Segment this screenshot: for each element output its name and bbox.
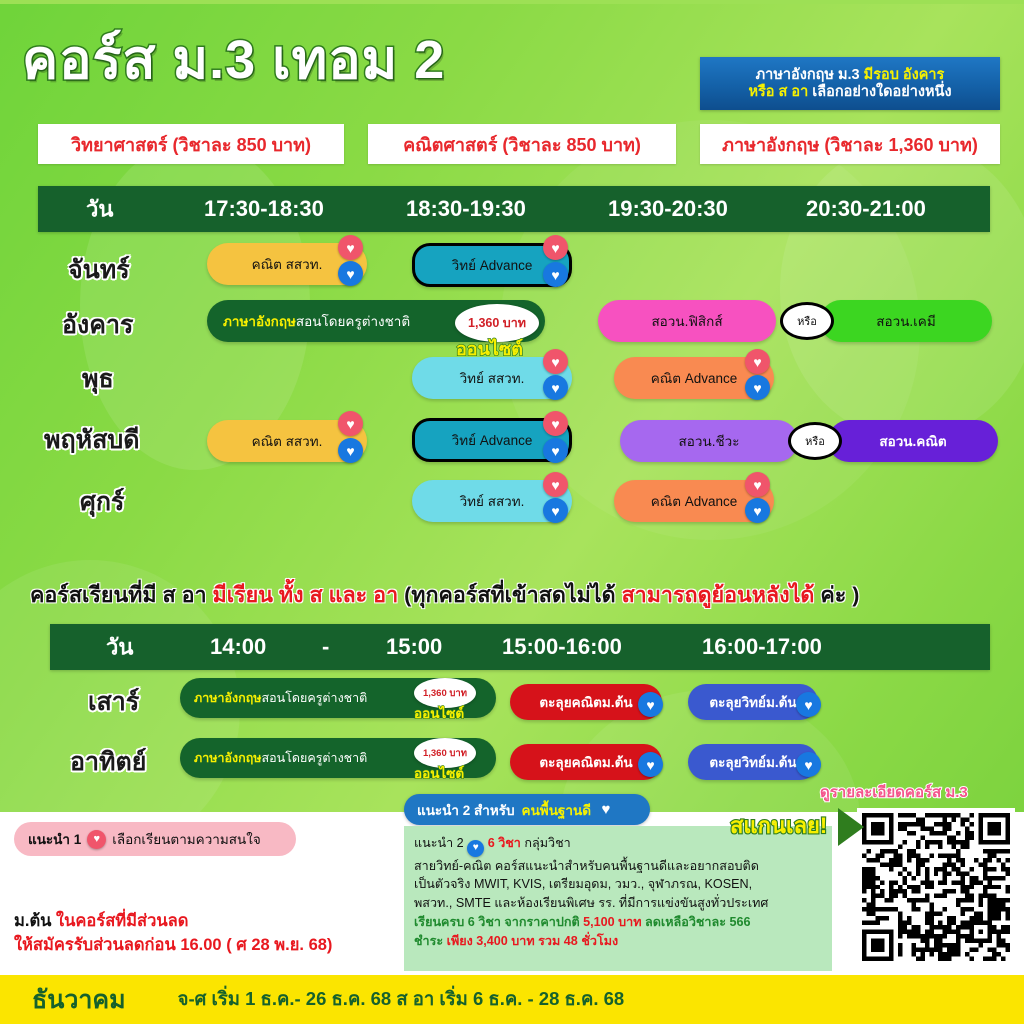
banner-line-2-part-a: หรือ ส อา <box>748 84 812 100</box>
weekend-table-header: วัน 14:00 - 15:00 15:00-16:00 16:00-17:0… <box>50 624 990 670</box>
rec2-tab-part-a: แนะนำ 2 สำหรับ <box>417 799 515 821</box>
subject-price-math: คณิตศาสตร์ (วิชาละ 850 บาท) <box>368 124 676 164</box>
day-label-friday: ศุกร์ <box>80 482 124 522</box>
english-notice-banner: ภาษาอังกฤษ ม.3 มีรอบ อังคาร หรือ ส อา เล… <box>700 57 1000 110</box>
day-label-saturday: เสาร์ <box>88 682 139 722</box>
onsite-label-sun: ออนไซต์ <box>414 762 464 784</box>
weekday-table-header: วัน 17:30-18:30 18:30-19:30 19:30-20:30 … <box>38 186 990 232</box>
class-pill-tue-sowon-chem[interactable]: สอวน.เคมี <box>820 300 992 342</box>
col-header-weekend-slot-2: 15:00-16:00 <box>502 634 622 660</box>
qr-code[interactable] <box>857 808 1015 966</box>
heart-icon-pink: ♥ <box>543 349 568 374</box>
col-header-slot-2: 18:30-19:30 <box>406 196 526 222</box>
day-label-sunday: อาทิตย์ <box>70 742 146 782</box>
heart-icon-pink: ♥ <box>87 830 106 849</box>
pill-label-foreign-teacher: สอนโดยครูต่างชาติ <box>262 688 368 708</box>
muton-line-1: ในคอร์สที่มีส่วนลด <box>51 912 188 930</box>
heart-icon-blue: ♥ <box>543 438 568 463</box>
col-header-slot-3: 19:30-20:30 <box>608 196 728 222</box>
midnote-part-1: คอร์สเรียนที่มี ส อา <box>30 583 213 607</box>
heart-icon-blue: ♥ <box>338 261 363 286</box>
pill-label-english: ภาษาอังกฤษ <box>194 688 262 708</box>
rec2-l6-a: ชำระ <box>414 934 447 948</box>
heart-icon-blue: ♥ <box>796 752 821 777</box>
qr-caption-label: ดูรายละเอียดคอร์ส ม.3 <box>820 780 968 804</box>
midnote-part-2: มีเรียน ทั้ง ส และ อา <box>213 583 405 607</box>
rec2-l6-b: เพียง 3,400 บาท รวม 48 ชั่วโมง <box>447 934 619 948</box>
rec2-l5-c: ลดเหลือวิชาละ 566 <box>642 915 751 929</box>
muton-line-2: ให้สมัครรับส่วนลดก่อน 16.00 ( ศ 28 พ.ย. … <box>14 936 332 954</box>
day-label-tuesday: อังคาร <box>62 305 133 345</box>
footer-month-label: ธันวาคม <box>32 980 126 1020</box>
col-header-weekend-slot-3: 16:00-17:00 <box>702 634 822 660</box>
scan-now-label: สแกนเลย! <box>730 808 827 843</box>
rec2-l1-b: 6 วิชา <box>488 836 521 850</box>
subject-price-science: วิทยาศาสตร์ (วิชาละ 850 บาท) <box>38 124 344 164</box>
rec1-text: เลือกเรียนตามความสนใจ <box>112 828 260 850</box>
col-header-day-weekend: วัน <box>106 630 133 665</box>
midnote-part-3: (ทุกคอร์สที่เข้าสดไม่ได้ <box>404 583 621 607</box>
subject-price-english: ภาษาอังกฤษ (วิชาละ 1,360 บาท) <box>700 124 1000 164</box>
col-header-slot-1: 17:30-18:30 <box>204 196 324 222</box>
heart-icon-pink: ♥ <box>543 472 568 497</box>
decorative-blob <box>780 140 1024 440</box>
qr-code-canvas <box>862 813 1010 961</box>
midnote-part-4: สามารถดูย้อนหลังได้ <box>622 583 821 607</box>
page-title: คอร์ส ม.3 เทอม 2 <box>22 16 445 102</box>
banner-line-1-part-b: มีรอบ อังคาร <box>864 67 945 83</box>
banner-line-2-part-b: เลือกอย่างใดอย่างหนึ่ง <box>812 84 951 100</box>
heart-icon-pink: ♥ <box>543 235 568 260</box>
or-badge-thursday: หรือ <box>788 422 842 460</box>
pill-label-english: ภาษาอังกฤษ <box>194 748 262 768</box>
col-header-slot-4: 20:30-21:00 <box>806 196 926 222</box>
rec2-line-5: เรียนครบ 6 วิชา จากราคาปกติ 5,100 บาท ลด… <box>414 913 822 932</box>
heart-icon-blue: ♥ <box>745 375 770 400</box>
day-label-wednesday: พุธ <box>82 359 114 399</box>
col-header-weekend-start: 14:00 <box>210 634 266 660</box>
heart-icon-pink: ♥ <box>338 411 363 436</box>
arrow-right-icon <box>838 808 864 846</box>
pill-label-english: ภาษาอังกฤษ <box>223 310 296 332</box>
rec2-l5-a: เรียนครบ 6 วิชา จากราคาปกติ <box>414 915 583 929</box>
recommendation-1-chip: แนะนำ 1 ♥ เลือกเรียนตามความสนใจ <box>14 822 296 856</box>
heart-icon-blue: ♥ <box>543 262 568 287</box>
rec2-tab-part-b: คนพื้นฐานดี <box>522 799 591 821</box>
class-pill-thu-sowon-bio[interactable]: สอวน.ชีวะ <box>620 420 798 462</box>
heart-icon-pink: ♥ <box>338 235 363 260</box>
heart-icon-blue: ♥ <box>543 498 568 523</box>
muton-prefix: ม.ต้น <box>14 912 51 930</box>
rec1-prefix-label: แนะนำ 1 <box>28 828 81 850</box>
heart-icon-pink: ♥ <box>543 411 568 436</box>
footer-dates-label: จ-ศ เริ่ม 1 ธ.ค.- 26 ธ.ค. 68 ส อา เริ่ม … <box>178 985 625 1014</box>
heart-icon-blue: ♥ <box>467 840 484 857</box>
replay-availability-note: คอร์สเรียนที่มี ส อา มีเรียน ทั้ง ส และ … <box>30 578 1010 612</box>
onsite-label-tue: ออนไซต์ <box>456 334 523 363</box>
rec2-line-6: ชำระ เพียง 3,400 บาท รวม 48 ชั่วโมง <box>414 932 822 951</box>
class-pill-thu-sowon-math[interactable]: สอวน.คณิต <box>828 420 998 462</box>
pill-label-foreign-teacher: สอนโดยครูต่างชาติ <box>296 310 410 332</box>
heart-icon-blue: ♥ <box>543 375 568 400</box>
rec2-line-3: เป็นตัวจริง MWIT, KVIS, เตรียมอุดม, วมว.… <box>414 875 822 894</box>
recommendation-2-details: แนะนำ 2 ♥ 6 วิชา กลุ่มวิชา สายวิทย์-คณิต… <box>404 826 832 971</box>
day-label-monday: จันทร์ <box>68 250 130 290</box>
col-header-weekend-end: 15:00 <box>386 634 442 660</box>
day-label-thursday: พฤหัสบดี <box>44 420 139 460</box>
rec2-line-2: สายวิทย์-คณิต คอร์สแนะนำสำหรับคนพื้นฐานด… <box>414 857 822 876</box>
top-edge-line <box>0 0 1024 4</box>
onsite-label-sat: ออนไซต์ <box>414 702 464 724</box>
or-badge-tuesday: หรือ <box>780 302 834 340</box>
banner-line-1: ภาษาอังกฤษ ม.3 มีรอบ อังคาร <box>756 67 945 83</box>
rec2-line-4: พสวท., SMTE และห้องเรียนพิเศษ รร. ที่มีก… <box>414 894 822 913</box>
heart-icon-pink: ♥ <box>745 472 770 497</box>
banner-line-2: หรือ ส อา เลือกอย่างใดอย่างหนึ่ง <box>748 84 951 100</box>
class-pill-tue-sowon-physics[interactable]: สอวน.ฟิสิกส์ <box>598 300 776 342</box>
banner-line-1-part-a: ภาษาอังกฤษ ม.3 <box>756 67 864 83</box>
heart-icon-blue: ♥ <box>638 752 663 777</box>
pill-label-foreign-teacher: สอนโดยครูต่างชาติ <box>262 748 368 768</box>
heart-icon-blue: ♥ <box>638 692 663 717</box>
rec2-l1-c: กลุ่มวิชา <box>521 836 571 850</box>
recommendation-2-tab: แนะนำ 2 สำหรับคนพื้นฐานดี ♥ <box>404 794 650 825</box>
heart-icon-white: ♥ <box>598 802 614 818</box>
col-header-day: วัน <box>86 192 113 227</box>
heart-icon-blue: ♥ <box>745 498 770 523</box>
rec2-l5-b: 5,100 บาท <box>583 915 641 929</box>
discount-deadline-note: ม.ต้น ในคอร์สที่มีส่วนลด ให้สมัครรับส่วน… <box>14 910 404 958</box>
col-header-weekend-dash: - <box>322 634 329 660</box>
midnote-part-5: ค่ะ ) <box>820 583 859 607</box>
heart-icon-blue: ♥ <box>796 692 821 717</box>
heart-icon-blue: ♥ <box>338 438 363 463</box>
footer-bar: ธันวาคม จ-ศ เริ่ม 1 ธ.ค.- 26 ธ.ค. 68 ส อ… <box>0 975 1024 1024</box>
heart-icon-pink: ♥ <box>745 349 770 374</box>
rec2-l1-a: แนะนำ 2 <box>414 836 467 850</box>
